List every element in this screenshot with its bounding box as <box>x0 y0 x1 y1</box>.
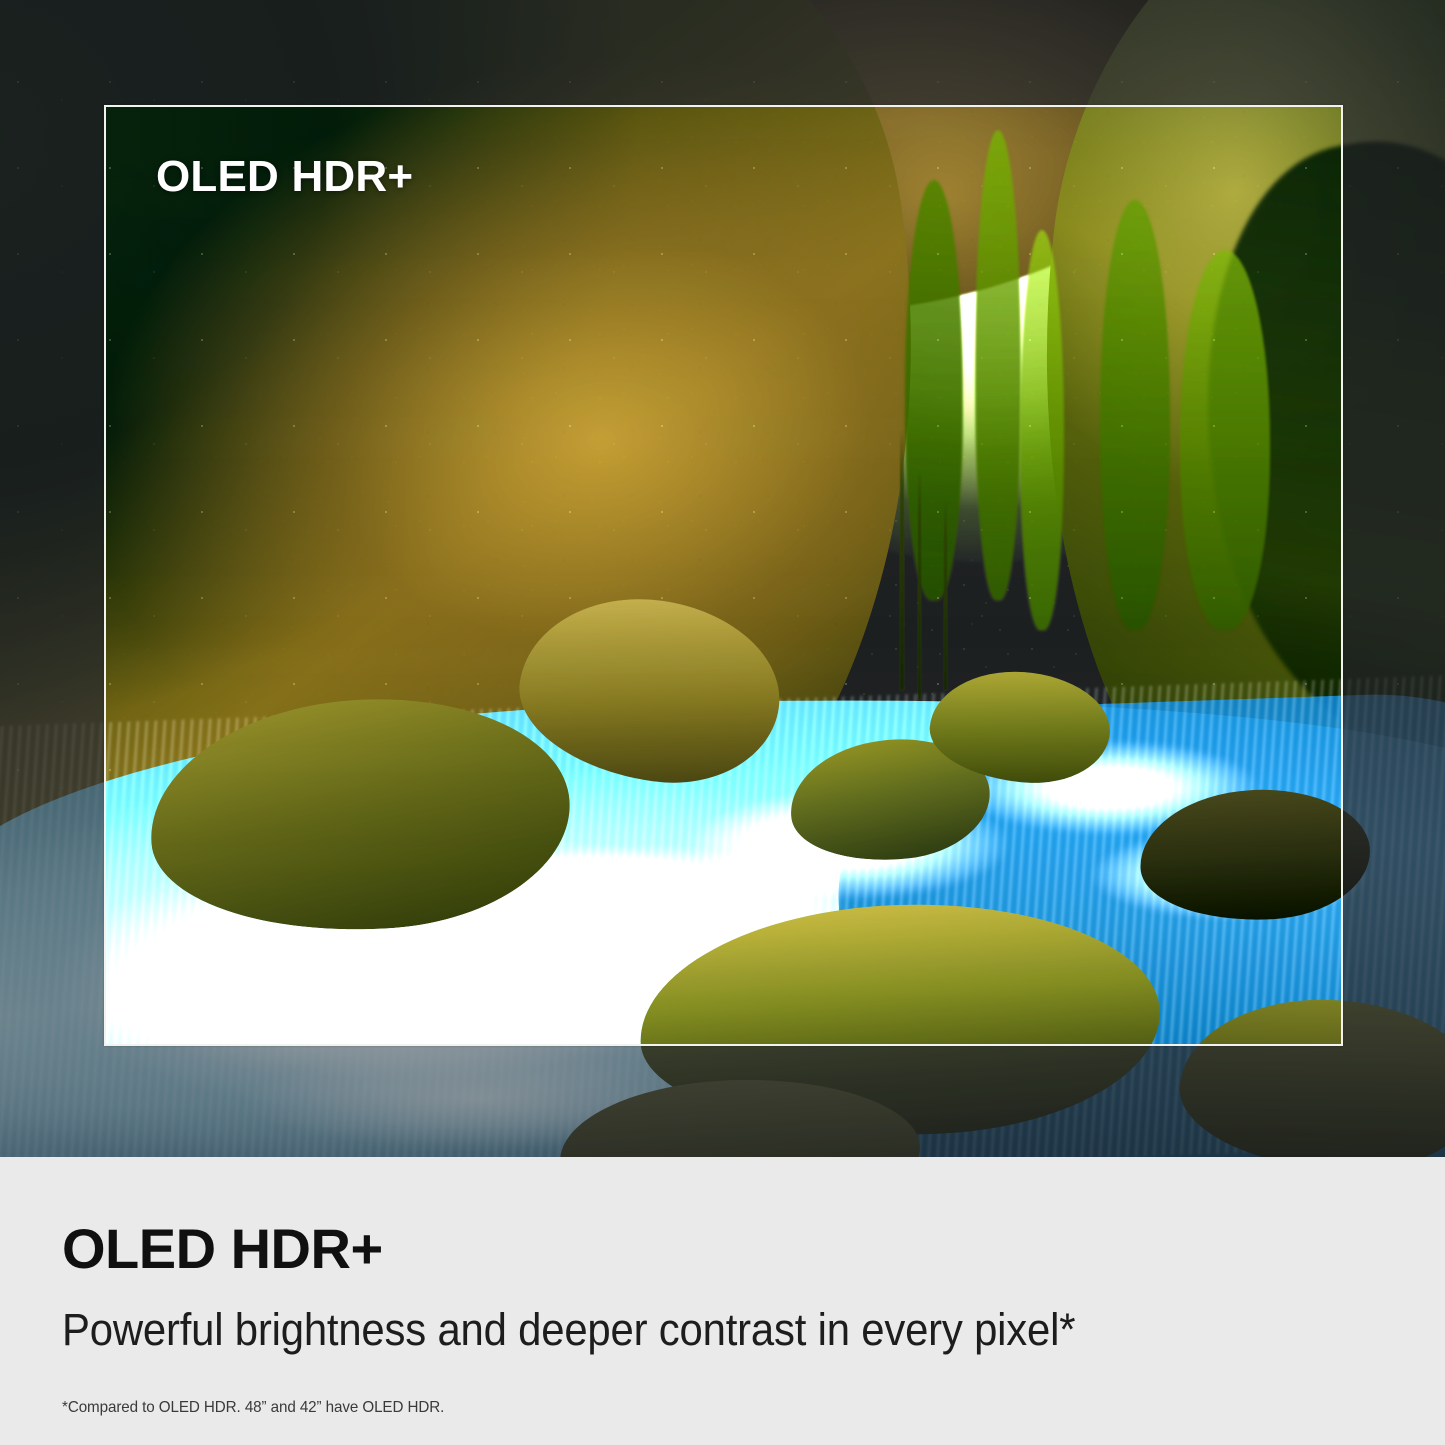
caption-title: OLED HDR+ <box>62 1216 383 1281</box>
caption-footnote: *Compared to OLED HDR. 48” and 42” have … <box>62 1399 444 1417</box>
caption-subtitle: Powerful brightness and deeper contrast … <box>62 1304 1075 1356</box>
hdr-demo-window <box>106 107 1342 1045</box>
hero-overlay-label: OLED HDR+ <box>156 152 413 202</box>
product-feature-page: OLED HDR+ OLED HDR+ Powerful brightness … <box>0 0 1445 1445</box>
caption-panel: OLED HDR+ Powerful brightness and deeper… <box>0 1157 1445 1445</box>
hero-photo-section: OLED HDR+ <box>0 0 1445 1157</box>
photo-hdr-bright <box>106 107 1342 1045</box>
